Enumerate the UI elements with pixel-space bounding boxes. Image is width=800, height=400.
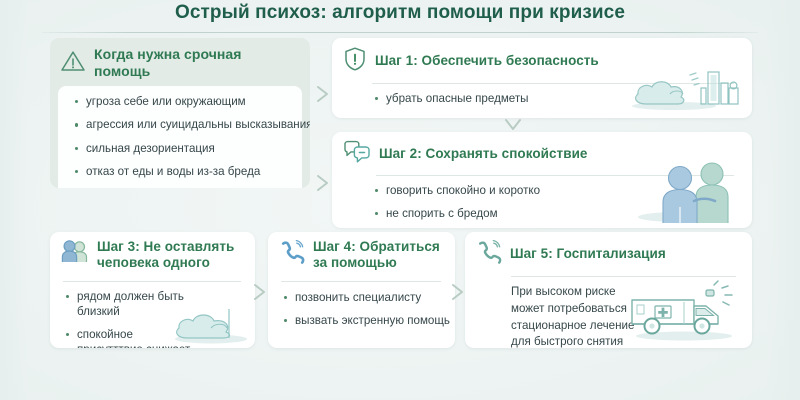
red-flags-header: Когда нужна срочная помощь <box>50 38 310 86</box>
step-4-heading-line-2: за помощью <box>313 255 440 271</box>
step-2-card: Шаг 2: Сохранять спокойствие говорить сп… <box>332 132 752 228</box>
step-1-card: Шаг 1: Обеспечить безопасность убрать оп… <box>332 38 752 118</box>
title-divider <box>42 32 758 33</box>
step-2-heading: Шаг 2: Сохранять спокойствие <box>379 146 587 162</box>
step-4-heading: Шаг 4: Обратиться за помощью <box>313 239 440 272</box>
step-1-header: Шаг 1: Обеспечить безопасность <box>332 38 752 83</box>
connector-arrow-step-3-to-step-4 <box>250 282 270 302</box>
red-flags-heading: Когда нужна срочная помощь <box>94 46 298 80</box>
list-item: сильная дезориентация <box>86 142 292 157</box>
phone-ringing-teal-icon <box>476 240 502 269</box>
list-item: убрать опасные предметы <box>386 92 738 107</box>
list-item: агрессия или суицидальны высказывания <box>86 118 292 133</box>
step-1-heading: Шаг 1: Обеспечить безопасность <box>375 53 599 69</box>
list-item: отказ от еды и воды из-за бреда <box>86 165 292 180</box>
red-flags-panel: угроза себе или окружающим агрессия или … <box>58 86 302 188</box>
warning-triangle-icon <box>60 49 86 78</box>
list-item: огранинить доступ к окнам и лекарствам <box>386 115 738 118</box>
step-3-heading-line-2: чеповека одного <box>97 255 234 271</box>
step-4-heading-line-1: Шаг 4: Обратиться <box>313 239 440 255</box>
list-item: позвонить специалисту <box>295 291 447 306</box>
infographic-canvas: Острый психоз: алгоритм помощи при кризи… <box>0 0 800 400</box>
shield-exclamation-icon <box>343 46 367 77</box>
list-item: не спорить с бредом <box>386 207 738 222</box>
step-1-list: убрать опасные предметы огранинить досту… <box>332 84 752 118</box>
step-5-heading: Шаг 5: Госпитализация <box>510 246 666 262</box>
list-item: вызвать экстренную помощь <box>295 314 447 329</box>
two-persons-icon <box>61 240 89 269</box>
step-3-card: Шаг 3: Не оставлять чеповека одного рядо… <box>50 232 255 348</box>
step-5-paragraph: При высоком риске может потребоваться ст… <box>465 277 752 348</box>
connector-arrow-to-step-3 <box>313 173 333 193</box>
step-2-header: Шаг 2: Сохранять спокойствие <box>332 132 752 175</box>
step-3-header: Шаг 3: Не оставлять чеповека одного <box>50 232 255 278</box>
step-3-heading: Шаг 3: Не оставлять чеповека одного <box>97 239 234 272</box>
step-4-list: позвонить специалисту вызвать экстренную… <box>268 282 455 329</box>
step-4-header: Шаг 4: Обратиться за помощью <box>268 232 455 278</box>
step-5-header: Шаг 5: Госпитализация <box>465 232 752 275</box>
list-item: говорить спокойно и коротко <box>386 184 738 199</box>
list-item: спокойное присутттвие снижает тревогу <box>77 328 199 348</box>
phone-ringing-icon <box>279 240 305 269</box>
speech-bubbles-icon <box>343 140 371 169</box>
list-item: угроза себе или окружающим <box>86 95 292 110</box>
red-flags-card: Когда нужна срочная помощь угроза себе и… <box>50 38 310 188</box>
connector-arrow-to-step-1 <box>313 84 333 104</box>
step-3-list: рядом должен быть близкий спокойное прис… <box>50 282 255 348</box>
step-5-card: Шаг 5: Госпитализация При высоком риске … <box>465 232 752 348</box>
page-title: Острый психоз: алгоритм помощи при кризи… <box>0 2 800 24</box>
step-2-list: говорить спокойно и коротко не спорить с… <box>332 176 752 228</box>
list-item: рядом должен быть близкий <box>77 290 199 319</box>
red-flags-list: угроза себе или окружающим агрессия или … <box>58 86 302 188</box>
step-4-card: Шаг 4: Обратиться за помощью позвонить с… <box>268 232 455 348</box>
step-3-heading-line-1: Шаг 3: Не оставлять <box>97 239 234 255</box>
connector-arrow-step-1-to-step-2 <box>503 117 523 133</box>
